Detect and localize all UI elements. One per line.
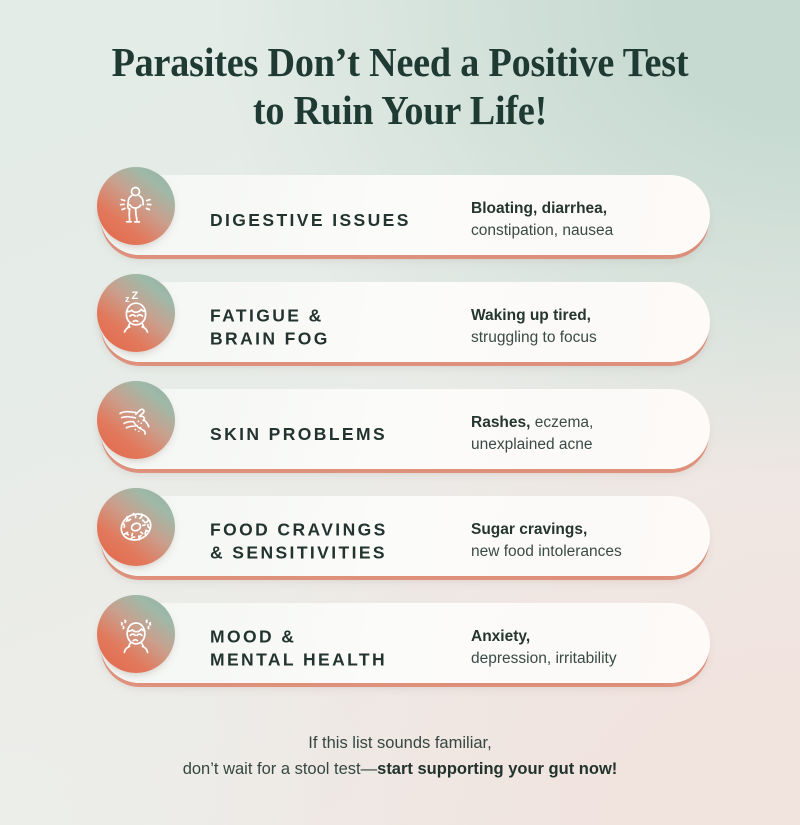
description-bold: Waking up tired,	[471, 305, 686, 327]
description-bold: Bloating, diarrhea,	[471, 198, 686, 220]
symptom-description: Bloating, diarrhea, constipation, nausea	[471, 198, 686, 242]
symptom-description: Anxiety, depression, irritability	[471, 626, 686, 670]
title-line-1: Parasites Don’t Need a Positive Test	[112, 39, 689, 85]
description-bold: Sugar cravings,	[471, 519, 686, 541]
footer-callout: If this list sounds familiar, don’t wait…	[0, 730, 800, 783]
symptom-description: Rashes, eczema, unexplained acne	[471, 412, 686, 456]
description-rest: struggling to focus	[471, 327, 686, 349]
symptom-description: Sugar cravings, new food intolerances	[471, 519, 686, 563]
footer-line-2: don’t wait for a stool test—start suppor…	[0, 756, 800, 783]
footer-line-1: If this list sounds familiar,	[0, 730, 800, 757]
symptom-label: SKIN PROBLEMS	[210, 423, 387, 445]
description-rest: constipation, nausea	[471, 220, 686, 242]
symptom-label: FATIGUE & BRAIN FOG	[210, 305, 330, 350]
infographic-root: Parasites Don’t Need a Positive Test to …	[0, 0, 800, 825]
description-rest: unexplained acne	[471, 434, 686, 456]
description-rest: new food intolerances	[471, 541, 686, 563]
description-bold: Anxiety,	[471, 626, 686, 648]
svg-text:Z: Z	[132, 290, 139, 302]
footer-bold: start supporting your gut now!	[377, 760, 617, 778]
donut-icon	[97, 488, 175, 566]
hands-rash-icon	[97, 381, 175, 459]
stressed-face-icon	[97, 595, 175, 673]
symptom-list: DIGESTIVE ISSUES Bloating, diarrhea, con…	[0, 167, 800, 702]
list-item: SKIN PROBLEMS Rashes, eczema, unexplaine…	[0, 381, 800, 488]
list-item: FOOD CRAVINGS & SENSITIVITIES Sugar crav…	[0, 488, 800, 595]
list-item: DIGESTIVE ISSUES Bloating, diarrhea, con…	[0, 167, 800, 274]
description-bold-tail: eczema,	[530, 414, 593, 431]
sleepy-face-zzz-icon: z Z	[97, 274, 175, 352]
symptom-label: DIGESTIVE ISSUES	[210, 209, 411, 231]
description-rest: depression, irritability	[471, 648, 686, 670]
page-title: Parasites Don’t Need a Positive Test to …	[28, 0, 772, 135]
person-stomach-pain-icon	[97, 167, 175, 245]
list-item: z Z FATIGUE & BRAIN FOG Waking up tired,…	[0, 274, 800, 381]
symptom-description: Waking up tired, struggling to focus	[471, 305, 686, 349]
footer-plain: don’t wait for a stool test—	[183, 760, 377, 778]
symptom-label: MOOD & MENTAL HEALTH	[210, 626, 387, 671]
svg-text:z: z	[125, 294, 130, 304]
list-item: MOOD & MENTAL HEALTH Anxiety, depression…	[0, 595, 800, 702]
title-line-2: to Ruin Your Life!	[84, 86, 716, 134]
symptom-label: FOOD CRAVINGS & SENSITIVITIES	[210, 519, 388, 564]
description-bold: Rashes, eczema,	[471, 412, 686, 434]
